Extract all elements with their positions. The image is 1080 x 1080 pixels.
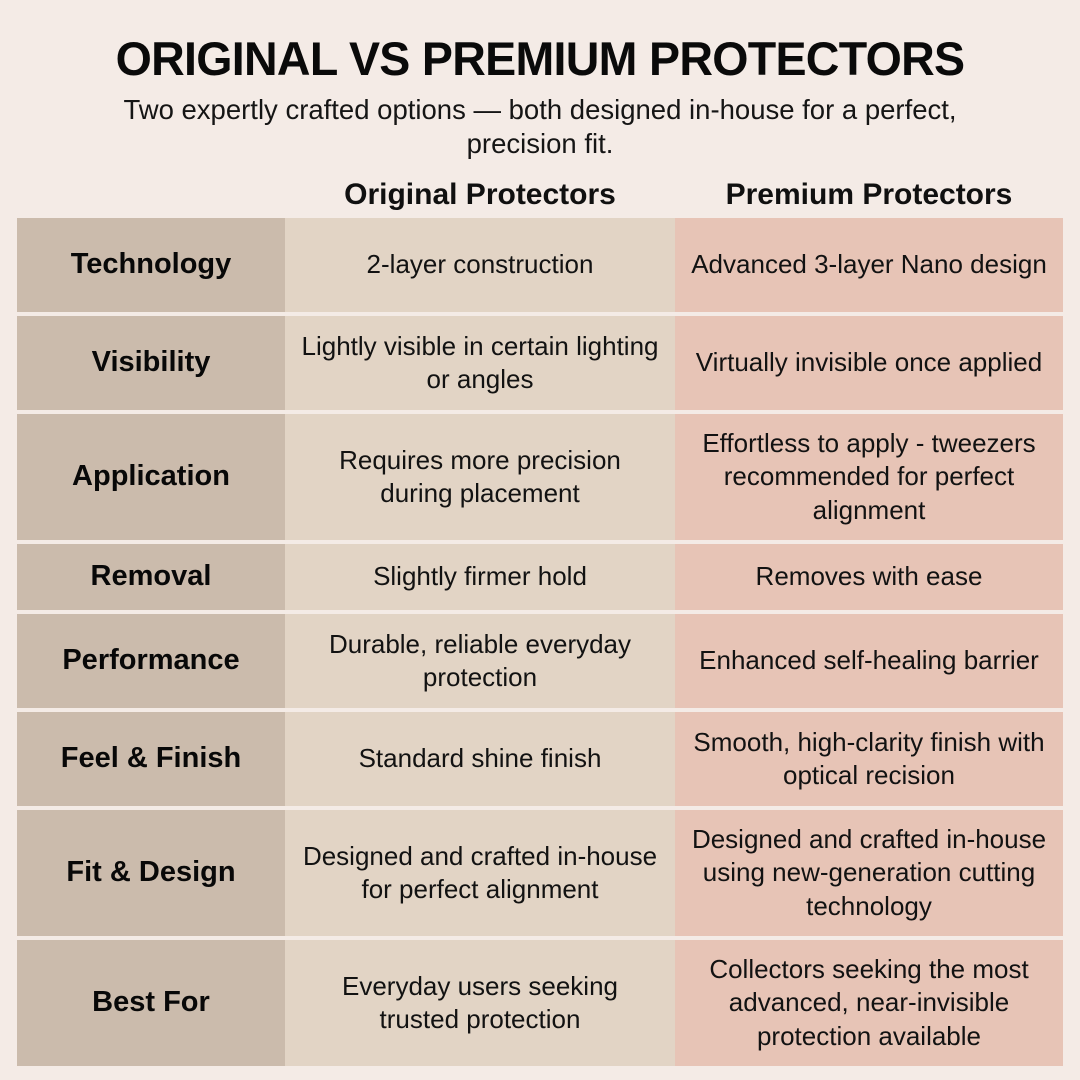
page-subtitle: Two expertly crafted options — both desi… [70,93,1010,161]
cell-original-technology: 2-layer construction [285,218,675,312]
page-title: ORIGINAL VS PREMIUM PROTECTORS [33,34,1047,84]
row-label-visibility: Visibility [17,316,285,410]
row-label-performance: Performance [17,614,285,708]
row-label-fit-and-design: Fit & Design [17,810,285,936]
column-header-original: Original Protectors [285,178,675,218]
row-label-feel-and-finish: Feel & Finish [17,712,285,806]
table-row: Visibility Lightly visible in certain li… [17,316,1063,410]
cell-premium-best-for: Collectors seeking the most advanced, ne… [675,940,1063,1066]
row-label-application: Application [17,414,285,540]
column-header-spacer [17,178,285,218]
table-row: Feel & Finish Standard shine finish Smoo… [17,712,1063,806]
cell-premium-visibility: Virtually invisible once applied [675,316,1063,410]
cell-original-visibility: Lightly visible in certain lighting or a… [285,316,675,410]
column-header-premium: Premium Protectors [675,178,1063,218]
table-row: Technology 2-layer construction Advanced… [17,218,1063,312]
cell-premium-performance: Enhanced self-healing barrier [675,614,1063,708]
cell-premium-technology: Advanced 3-layer Nano design [675,218,1063,312]
header: ORIGINAL VS PREMIUM PROTECTORS Two exper… [0,0,1080,161]
cell-original-application: Requires more precision during placement [285,414,675,540]
table-row: Best For Everyday users seeking trusted … [17,940,1063,1066]
row-label-removal: Removal [17,544,285,610]
comparison-infographic: ORIGINAL VS PREMIUM PROTECTORS Two exper… [0,0,1080,1080]
comparison-table: Technology 2-layer construction Advanced… [0,218,1080,1066]
table-row: Application Requires more precision duri… [17,414,1063,540]
cell-premium-application: Effortless to apply - tweezers recommend… [675,414,1063,540]
row-label-technology: Technology [17,218,285,312]
cell-original-best-for: Everyday users seeking trusted protectio… [285,940,675,1066]
column-headers: Original Protectors Premium Protectors [0,178,1080,218]
table-row: Removal Slightly firmer hold Removes wit… [17,544,1063,610]
cell-original-removal: Slightly firmer hold [285,544,675,610]
cell-premium-feel-and-finish: Smooth, high-clarity finish with optical… [675,712,1063,806]
table-row: Performance Durable, reliable everyday p… [17,614,1063,708]
cell-premium-fit-and-design: Designed and crafted in-house using new-… [675,810,1063,936]
cell-original-feel-and-finish: Standard shine finish [285,712,675,806]
cell-premium-removal: Removes with ease [675,544,1063,610]
cell-original-fit-and-design: Designed and crafted in-house for perfec… [285,810,675,936]
row-label-best-for: Best For [17,940,285,1066]
cell-original-performance: Durable, reliable everyday protection [285,614,675,708]
table-row: Fit & Design Designed and crafted in-hou… [17,810,1063,936]
